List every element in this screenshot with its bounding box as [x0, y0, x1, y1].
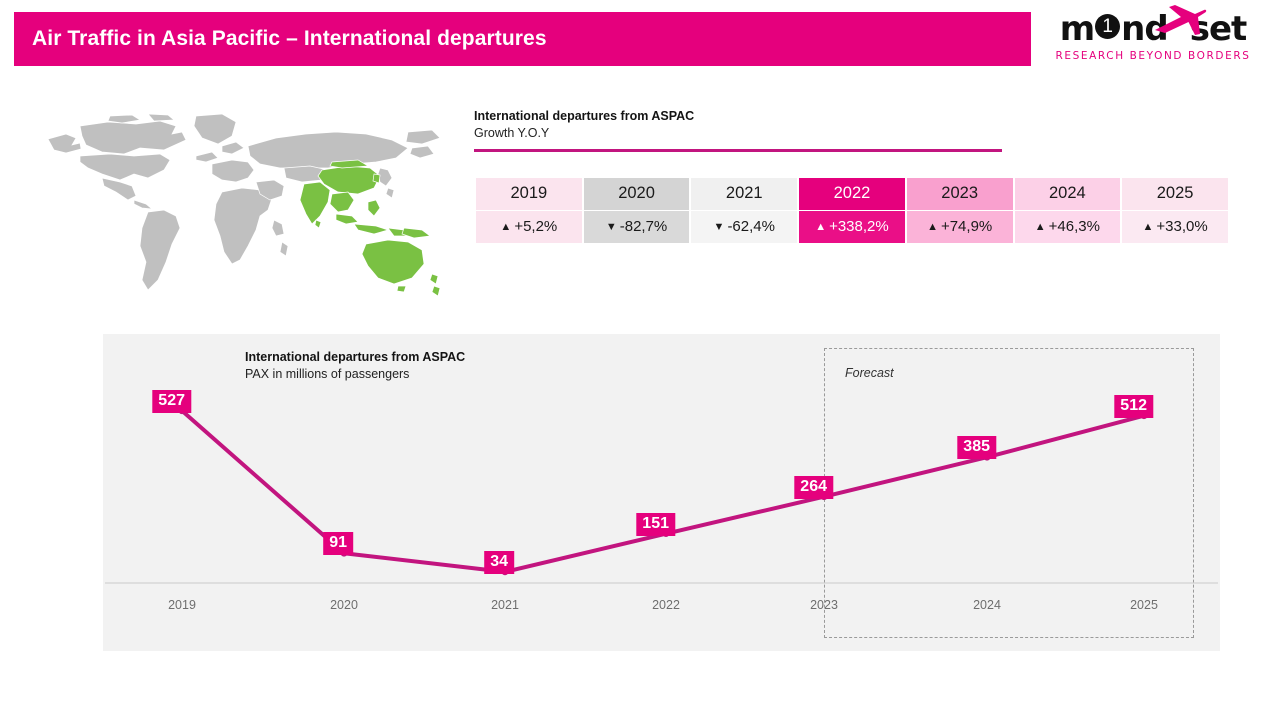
table-rule-divider	[474, 149, 1002, 152]
table-growth-cell-2021: ▼-62,4%	[691, 211, 797, 243]
table-year-cell-2022: 2022	[799, 178, 905, 210]
table-year-cell-2019: 2019	[476, 178, 582, 210]
x-axis-label-2023: 2023	[810, 598, 838, 612]
page-title: Air Traffic in Asia Pacific – Internatio…	[32, 27, 547, 51]
table-title: International departures from ASPAC	[474, 108, 1230, 125]
x-axis-label-2020: 2020	[330, 598, 358, 612]
airplane-icon	[1151, 3, 1207, 37]
x-axis-label-2019: 2019	[168, 598, 196, 612]
arrow-up-icon: ▲	[1035, 221, 1046, 233]
data-label-2019: 527	[152, 390, 191, 413]
table-growth-cell-2023: ▲+74,9%	[907, 211, 1013, 243]
table-header-row: 2019202020212022202320242025	[476, 178, 1228, 210]
chart-panel: Forecast International departures from A…	[103, 334, 1220, 651]
world-map-asia-pacific-highlight	[36, 112, 446, 308]
world-map-svg	[36, 112, 446, 308]
arrow-up-icon: ▲	[500, 221, 511, 233]
x-axis-label-2021: 2021	[491, 598, 519, 612]
table-year-cell-2020: 2020	[584, 178, 690, 210]
table-value-row: ▲+5,2%▼-82,7%▼-62,4%▲+338,2%▲+74,9%▲+46,…	[476, 211, 1228, 243]
arrow-up-icon: ▲	[927, 221, 938, 233]
table-growth-cell-2020: ▼-82,7%	[584, 211, 690, 243]
table-year-cell-2024: 2024	[1015, 178, 1121, 210]
table-year-cell-2023: 2023	[907, 178, 1013, 210]
data-label-2020: 91	[323, 532, 353, 555]
table-growth-cell-2022: ▲+338,2%	[799, 211, 905, 243]
logo-word-left: m	[1060, 12, 1094, 46]
data-label-2022: 151	[636, 513, 675, 536]
data-label-2025: 512	[1114, 395, 1153, 418]
arrow-down-icon: ▼	[606, 221, 617, 233]
arrow-up-icon: ▲	[1143, 221, 1154, 233]
logo-word-one: 1	[1095, 14, 1120, 39]
x-axis-label-2024: 2024	[973, 598, 1001, 612]
data-label-2023: 264	[794, 476, 833, 499]
table-year-cell-2021: 2021	[691, 178, 797, 210]
header-bar: Air Traffic in Asia Pacific – Internatio…	[14, 12, 1031, 66]
brand-logo: m1ndset RESEARCH BEYOND BORDERS	[1055, 10, 1251, 68]
logo-tagline: RESEARCH BEYOND BORDERS	[1055, 50, 1251, 62]
x-axis-label-2022: 2022	[652, 598, 680, 612]
table-growth-cell-2025: ▲+33,0%	[1122, 211, 1228, 243]
table-growth-cell-2019: ▲+5,2%	[476, 211, 582, 243]
table-year-cell-2025: 2025	[1122, 178, 1228, 210]
data-label-2024: 385	[957, 436, 996, 459]
yoy-growth-block: International departures from ASPAC Grow…	[474, 108, 1230, 244]
table-growth-cell-2024: ▲+46,3%	[1015, 211, 1121, 243]
arrow-up-icon: ▲	[815, 221, 826, 233]
data-label-2021: 34	[484, 551, 514, 574]
yoy-growth-table: 2019202020212022202320242025 ▲+5,2%▼-82,…	[474, 177, 1230, 244]
x-axis-label-2025: 2025	[1130, 598, 1158, 612]
table-subtitle: Growth Y.O.Y	[474, 125, 1230, 142]
logo-wordmark: m1ndset	[1055, 10, 1251, 48]
arrow-down-icon: ▼	[714, 221, 725, 233]
